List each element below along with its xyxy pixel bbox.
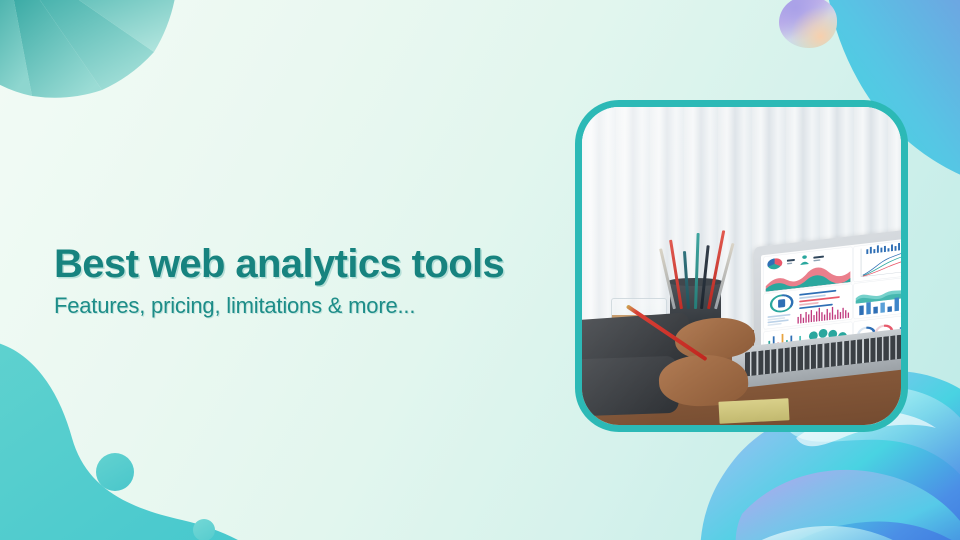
- decorative-circle-small: [193, 519, 215, 540]
- iridescent-egg-decoration: [779, 0, 837, 48]
- page-subtitle: Features, pricing, limitations & more...: [54, 293, 534, 319]
- sticky-note: [719, 398, 790, 424]
- photo-frame: [575, 100, 908, 432]
- dashboard-card-trend-lines: [855, 239, 901, 282]
- page-title: Best web analytics tools: [54, 243, 534, 286]
- petal-fan-decoration: [0, 0, 244, 168]
- text-block: Best web analytics tools Features, prici…: [54, 243, 534, 320]
- turquoise-blob-decoration: [0, 320, 280, 540]
- decorative-circle-large: [96, 453, 134, 491]
- laptop-analytics-photo: [582, 107, 901, 425]
- dashboard-card-area-bars: [855, 277, 901, 320]
- marketing-banner: Best web analytics tools Features, prici…: [0, 0, 960, 540]
